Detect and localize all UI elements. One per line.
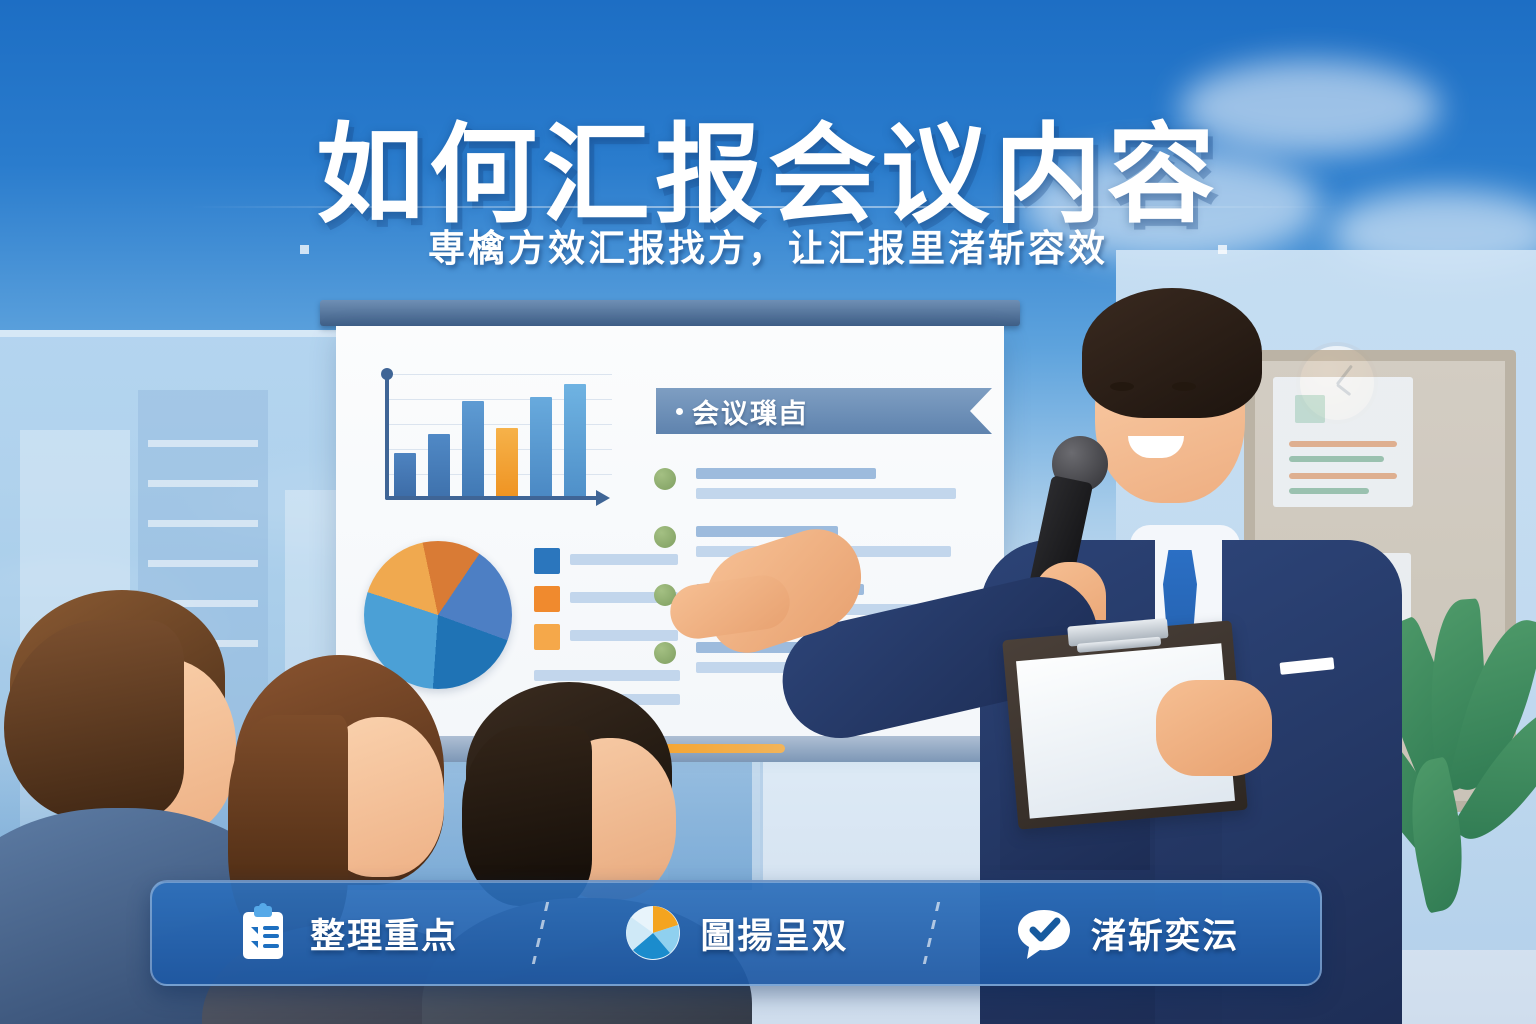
speech-bubble-check-icon [1014,903,1074,963]
pie-chart-icon [623,903,683,963]
page-title: 如何汇报会议内容 [0,118,1536,231]
badge-label-organize: 整理重点 [310,908,458,959]
clipboard-checklist-icon [233,903,293,963]
screen-top-bar [320,300,1020,326]
banner-bullet-dot [676,408,683,415]
slide-banner-label: 会议璅卣 [692,392,808,431]
badge-label-expression: 渚斩奕沄 [1091,908,1239,959]
badge-organize-key-points[interactable]: 整理重点 [152,882,539,984]
badge-clear-expression[interactable]: 渚斩奕沄 [933,882,1320,984]
feature-badge-bar: 整理重点 圖揚呈双 渚斩奕 [150,880,1322,986]
poster-canvas: 会议璅卣 [0,0,1536,1024]
badge-label-chart: 圖揚呈双 [700,908,848,959]
page-subtitle: 専檎方效汇报找方，让汇报里渚斩容效 [0,218,1536,272]
slide-title-banner: 会议璅卣 [656,388,992,434]
badge-chart-presentation[interactable]: 圖揚呈双 [542,882,929,984]
slide-bar-chart [372,372,612,514]
subtitle-divider [190,206,1340,208]
